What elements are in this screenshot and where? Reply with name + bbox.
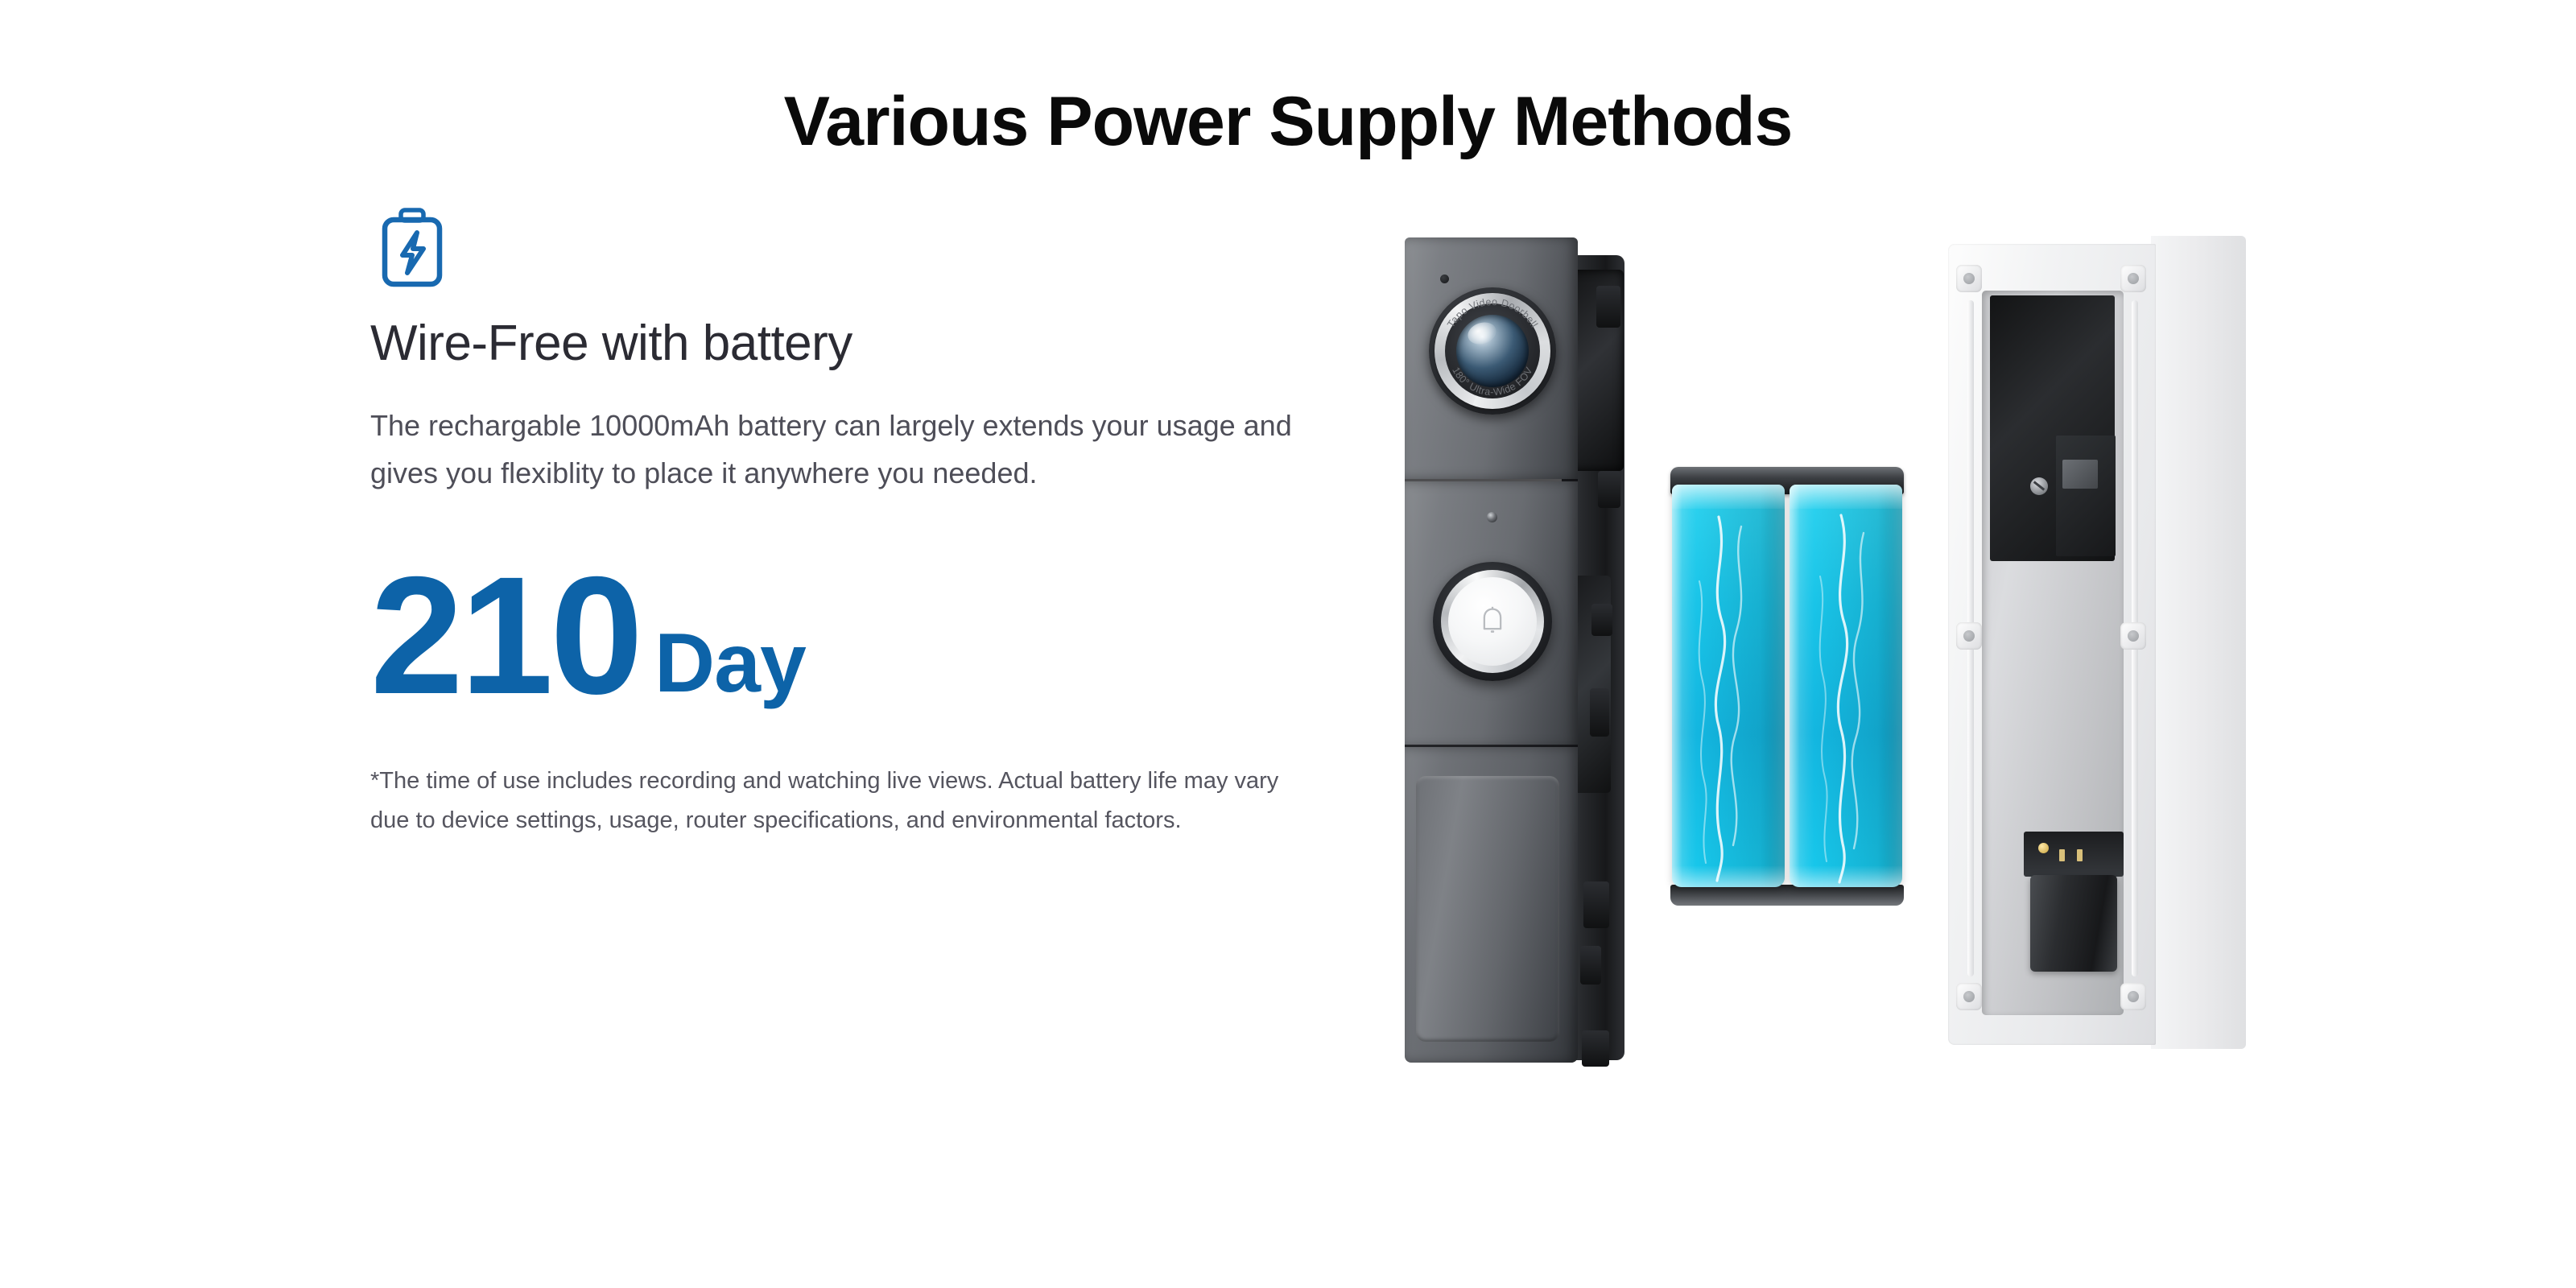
feature-heading: Wire-Free with battery — [370, 315, 1360, 372]
wall-mount-bracket — [1948, 236, 2246, 1057]
doorbell-push-button[interactable] — [1448, 577, 1537, 666]
bracket-gold-contact — [2038, 843, 2049, 853]
bracket-speaker-module — [2030, 875, 2117, 972]
tapo-video-doorbell-unit: Tapo Video Doorbell 180° Ultra-Wide FOV — [1405, 237, 1618, 1083]
promo-page: Various Power Supply Methods Wire-Free w… — [0, 0, 2576, 1288]
stat-number: 210 — [370, 564, 640, 708]
battery-life-stat: 210 Day — [370, 564, 1360, 708]
bracket-mount-clip — [1956, 622, 1982, 650]
bracket-cavity — [1982, 291, 2124, 1015]
bracket-mount-clip — [1956, 983, 1982, 1010]
doorbell-side-tab — [1582, 1030, 1609, 1067]
bracket-pin — [2077, 849, 2083, 861]
rechargeable-battery-pack — [1670, 467, 1904, 906]
doorbell-side-tab — [1580, 946, 1601, 985]
battery-charging-icon — [370, 205, 454, 289]
doorbell-speaker-grille — [1416, 776, 1559, 1042]
bracket-mount-clip — [2120, 265, 2146, 292]
bracket-mount-clip — [2120, 622, 2146, 650]
status-led — [1487, 512, 1497, 522]
bracket-terminal-strip — [2024, 832, 2124, 877]
feature-column: Wire-Free with battery The rechargable 1… — [370, 205, 1360, 840]
doorbell-side-tab — [1590, 688, 1609, 737]
energy-arc-graphic — [1790, 485, 1902, 887]
footnote-disclaimer: *The time of use includes recording and … — [370, 762, 1288, 840]
panel-seam — [1405, 479, 1578, 481]
bell-icon — [1476, 605, 1509, 638]
microphone-hole — [1440, 275, 1449, 283]
doorbell-side-tab — [1596, 286, 1620, 328]
bracket-front-shell — [1948, 244, 2156, 1045]
doorbell-side-tab — [1583, 881, 1609, 928]
doorbell-side-tab — [1591, 604, 1612, 636]
bracket-contact-pad — [2062, 460, 2098, 489]
bracket-screw — [2030, 477, 2048, 495]
energy-arc-graphic — [1672, 485, 1785, 887]
doorbell-side-tab — [1598, 471, 1620, 508]
bracket-connector-block — [2056, 436, 2116, 556]
product-exploded-view: Tapo Video Doorbell 180° Ultra-Wide FOV — [1360, 205, 2487, 1139]
battery-base-cap — [1670, 885, 1904, 906]
doorbell-speaker-panel — [1405, 747, 1578, 1063]
bracket-mount-clip — [2120, 983, 2146, 1010]
bracket-side-wall — [2151, 236, 2246, 1049]
battery-cell — [1790, 485, 1902, 887]
battery-cell — [1672, 485, 1785, 887]
panel-seam — [1405, 745, 1578, 747]
feature-description: The rechargable 10000mAh battery can lar… — [370, 402, 1328, 497]
page-title: Various Power Supply Methods — [0, 87, 2576, 156]
stat-unit: Day — [654, 621, 806, 705]
bracket-pin — [2059, 849, 2065, 861]
bracket-mount-clip — [1956, 265, 1982, 292]
